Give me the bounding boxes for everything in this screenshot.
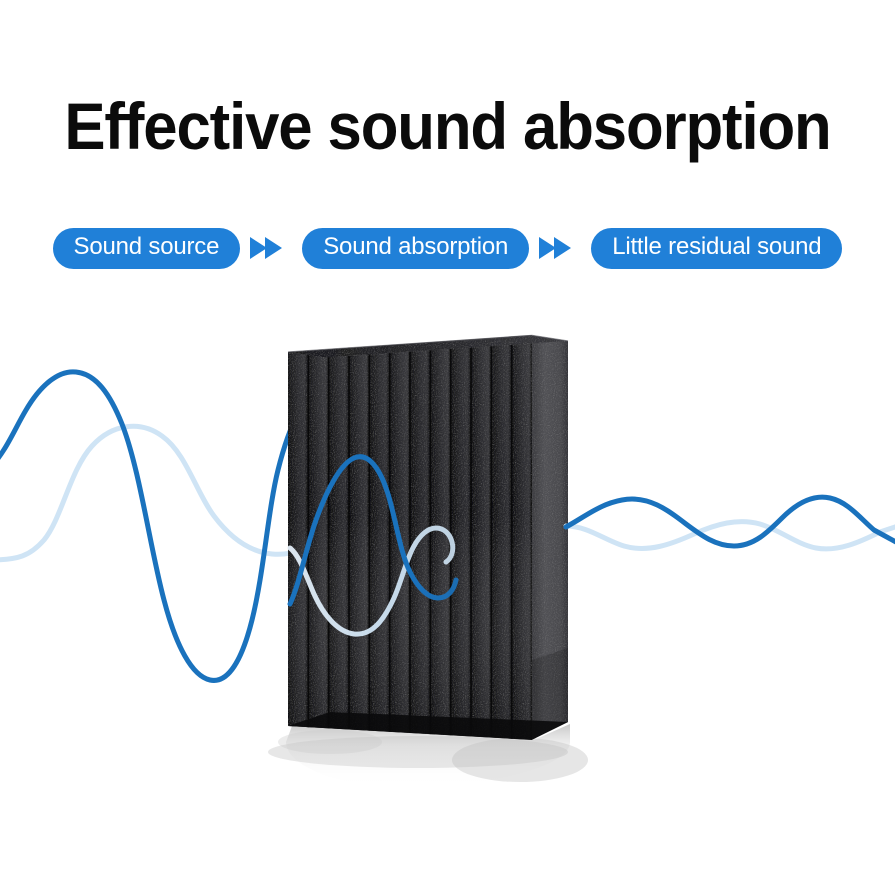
badge-sound-absorption-label: Sound absorption (323, 235, 508, 259)
double-chevron-right-icon-2 (529, 228, 591, 269)
badge-sound-source[interactable]: Sound source (53, 228, 241, 269)
badge-sound-absorption[interactable]: Sound absorption (302, 228, 529, 269)
badge-sound-source-label: Sound source (74, 235, 220, 259)
badge-little-residual-sound-label: Little residual sound (612, 235, 821, 259)
double-chevron-right-icon-1 (240, 228, 302, 269)
process-flow-badges: Sound source Sound absorption Little res… (0, 226, 895, 270)
page-title: Effective sound absorption (29, 88, 866, 164)
badge-little-residual-sound[interactable]: Little residual sound (591, 228, 842, 269)
illustration-canvas: Effective sound absorption Sound source … (0, 0, 895, 895)
